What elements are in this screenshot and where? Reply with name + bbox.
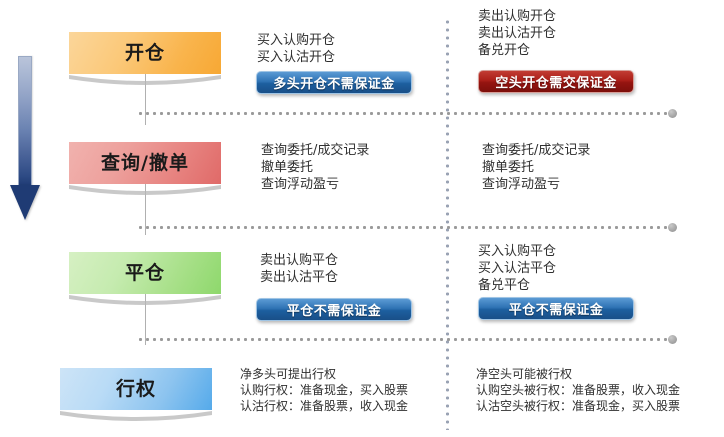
desc-line: 查询浮动盈亏 bbox=[261, 176, 369, 193]
exercise-long-description: 净多头可提出行权 认购行权：准备现金，买入股票 认沽行权：准备股票，收入现金 bbox=[240, 366, 408, 414]
desc-line: 净空头可能被行权 bbox=[476, 366, 680, 382]
stage-label-close: 平仓 bbox=[125, 264, 165, 283]
row-separator-query-endpoint bbox=[668, 223, 677, 232]
row-separator-query bbox=[137, 226, 672, 229]
badge-open-long-margin[interactable]: 多头开仓不需保证金 bbox=[256, 71, 412, 94]
badge-label: 多头开仓不需保证金 bbox=[273, 73, 395, 92]
desc-line: 买入认购开仓 bbox=[257, 32, 335, 49]
desc-line: 撤单委托 bbox=[482, 159, 590, 176]
desc-line: 卖出认沽平仓 bbox=[260, 269, 338, 286]
arrow-shaft bbox=[18, 56, 32, 186]
desc-line: 撤单委托 bbox=[261, 159, 369, 176]
desc-line: 认购空头被行权：准备股票，收入现金 bbox=[476, 382, 680, 398]
desc-line: 卖出认购开仓 bbox=[478, 8, 556, 25]
stage-box-exercise[interactable]: 行权 bbox=[60, 368, 212, 410]
stage-box-close[interactable]: 平仓 bbox=[69, 252, 221, 294]
stage-label-open: 开仓 bbox=[125, 44, 165, 63]
desc-line: 查询浮动盈亏 bbox=[482, 176, 590, 193]
close-short-description: 买入认购平仓 买入认沽平仓 备兑平仓 bbox=[478, 243, 556, 294]
row-separator-open-endpoint bbox=[668, 109, 677, 118]
row-separator-open bbox=[137, 112, 672, 115]
desc-line: 查询委托/成交记录 bbox=[482, 142, 590, 159]
desc-line: 备兑开仓 bbox=[478, 42, 556, 59]
badge-label: 平仓不需保证金 bbox=[509, 299, 604, 318]
stage-label-exercise: 行权 bbox=[116, 380, 156, 399]
row-separator-close bbox=[137, 338, 672, 341]
column-divider-dotted bbox=[446, 18, 449, 430]
arrow-head-icon bbox=[10, 185, 40, 220]
desc-line: 备兑平仓 bbox=[478, 277, 556, 294]
option-trading-flow-diagram: 开仓 买入认购开仓 买入认沽开仓 多头开仓不需保证金 卖出认购开仓 卖出认沽开仓… bbox=[0, 0, 724, 437]
open-long-description: 买入认购开仓 买入认沽开仓 bbox=[257, 32, 335, 66]
exercise-short-description: 净空头可能被行权 认购空头被行权：准备股票，收入现金 认沽空头被行权：准备现金，… bbox=[476, 366, 680, 414]
badge-label: 空头开仓需交保证金 bbox=[495, 72, 617, 91]
desc-line: 卖出认购平仓 bbox=[260, 252, 338, 269]
desc-line: 买入认沽平仓 bbox=[478, 260, 556, 277]
stage-label-query-cancel: 查询/撤单 bbox=[101, 154, 189, 173]
query-long-description: 查询委托/成交记录 撤单委托 查询浮动盈亏 bbox=[261, 142, 369, 193]
stage-box-open-shadow bbox=[69, 74, 221, 88]
desc-line: 净多头可提出行权 bbox=[240, 366, 408, 382]
row-separator-close-endpoint bbox=[668, 335, 677, 344]
badge-open-short-margin[interactable]: 空头开仓需交保证金 bbox=[478, 70, 634, 93]
badge-label: 平仓不需保证金 bbox=[287, 300, 382, 319]
badge-close-short-margin[interactable]: 平仓不需保证金 bbox=[478, 297, 634, 320]
stage-box-open[interactable]: 开仓 bbox=[69, 32, 221, 74]
desc-line: 认沽空头被行权：准备现金，买入股票 bbox=[476, 398, 680, 414]
open-short-description: 卖出认购开仓 卖出认沽开仓 备兑开仓 bbox=[478, 8, 556, 59]
stage-box-exercise-shadow bbox=[60, 410, 212, 424]
desc-line: 卖出认沽开仓 bbox=[478, 25, 556, 42]
desc-line: 认沽行权：准备股票，收入现金 bbox=[240, 398, 408, 414]
desc-line: 认购行权：准备现金，买入股票 bbox=[240, 382, 408, 398]
query-short-description: 查询委托/成交记录 撤单委托 查询浮动盈亏 bbox=[482, 142, 590, 193]
desc-line: 查询委托/成交记录 bbox=[261, 142, 369, 159]
stage-box-query-shadow bbox=[69, 184, 221, 198]
downward-process-arrow bbox=[8, 56, 42, 222]
stage-box-query-cancel[interactable]: 查询/撤单 bbox=[69, 142, 221, 184]
desc-line: 买入认沽开仓 bbox=[257, 49, 335, 66]
badge-close-long-margin[interactable]: 平仓不需保证金 bbox=[256, 298, 412, 321]
close-long-description: 卖出认购平仓 卖出认沽平仓 bbox=[260, 252, 338, 286]
stage-box-close-shadow bbox=[69, 294, 221, 308]
desc-line: 买入认购平仓 bbox=[478, 243, 556, 260]
